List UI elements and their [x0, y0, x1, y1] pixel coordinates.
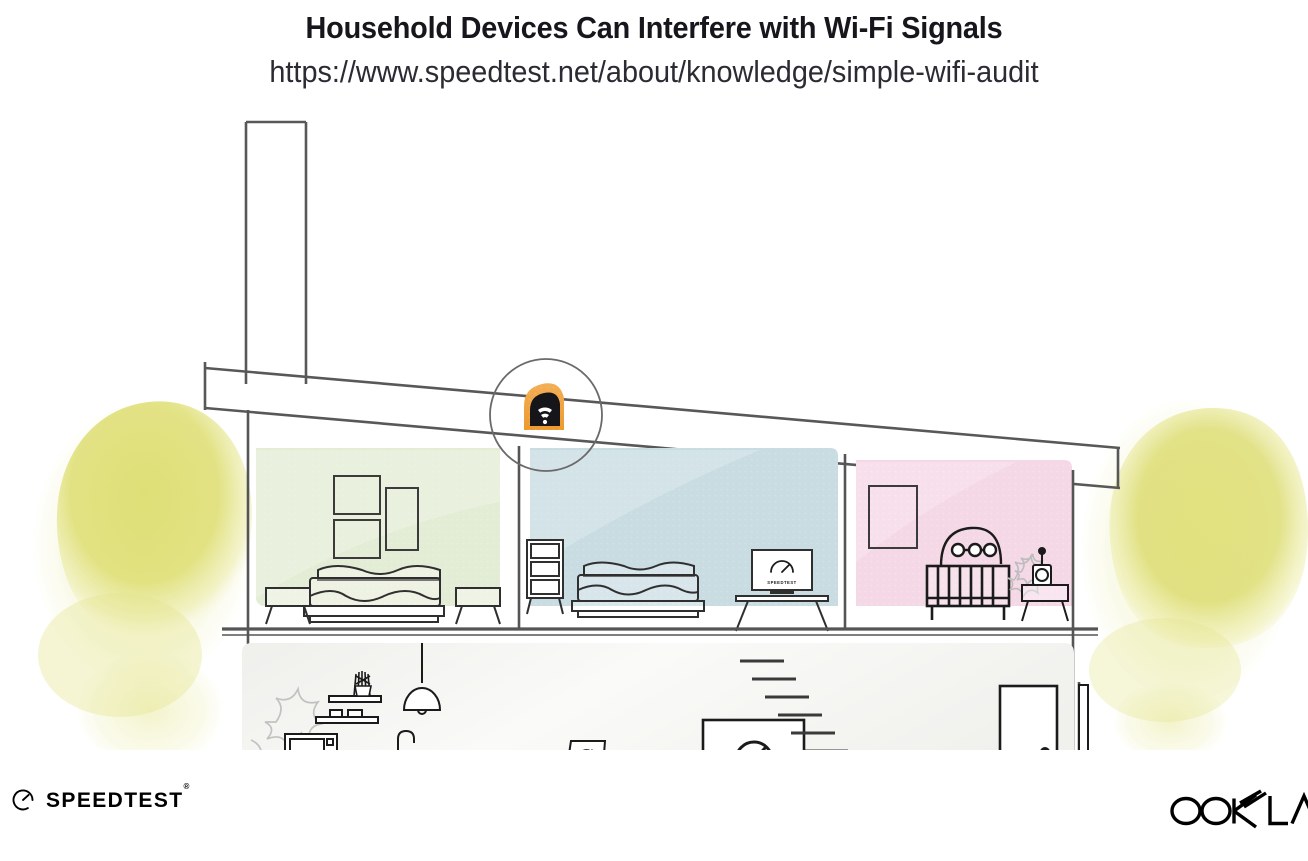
floor-slab-upper — [222, 629, 1098, 635]
room-living-kitchen: SPEEDTEST SPEEDTEST — [242, 643, 1088, 750]
television: SPEEDTEST — [703, 720, 804, 750]
crib — [927, 566, 1009, 620]
ookla-wordmark — [1166, 787, 1308, 831]
bed-blue — [572, 563, 704, 618]
footer: SPEEDTEST® — [0, 761, 1308, 861]
foliage-left — [34, 401, 252, 750]
room-nursery-pink — [856, 460, 1072, 621]
speedtest-trademark: ® — [183, 782, 189, 791]
page-title: Household Devices Can Interfere with Wi-… — [46, 10, 1262, 46]
entry-door — [1000, 686, 1057, 750]
room-bedroom-blue: SPEEDTEST — [527, 448, 838, 631]
roof-and-chimney — [205, 122, 1120, 488]
room-bedroom-green — [256, 448, 500, 624]
ookla-logo[interactable] — [1166, 787, 1308, 836]
foliage-right — [1082, 400, 1308, 750]
nightstand-right-green — [456, 588, 500, 624]
side-window — [1079, 685, 1088, 750]
desk-blue — [736, 596, 828, 631]
monitor-blue: SPEEDTEST — [752, 550, 812, 594]
utensil-pot — [354, 671, 371, 696]
monitor-screen-label: SPEEDTEST — [767, 580, 796, 585]
speedtest-logo[interactable]: SPEEDTEST® — [10, 787, 189, 813]
speedtest-wordmark: SPEEDTEST® — [46, 790, 189, 811]
header: Household Devices Can Interfere with Wi-… — [0, 0, 1308, 89]
house-illustration: SPEEDTEST — [0, 110, 1308, 750]
bed-green — [304, 566, 444, 622]
microwave — [285, 734, 337, 750]
nightstand-left-green — [266, 588, 310, 624]
wifi-router[interactable] — [524, 383, 564, 430]
speedometer-icon — [10, 787, 36, 813]
source-url: https://www.speedtest.net/about/knowledg… — [46, 54, 1262, 90]
speedtest-wordmark-text: SPEEDTEST — [46, 789, 183, 812]
infographic-page: Household Devices Can Interfere with Wi-… — [0, 0, 1308, 861]
